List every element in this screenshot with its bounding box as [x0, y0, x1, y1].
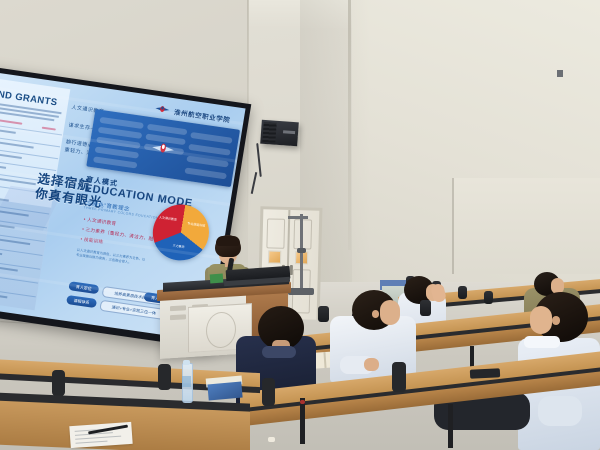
green-device-box [210, 274, 224, 284]
door-glass-pane [268, 250, 281, 263]
bottle-cap [183, 360, 190, 365]
wall-seam [348, 0, 351, 250]
student-mid-center-face [380, 300, 400, 325]
presenter-fringe [216, 236, 240, 246]
lecture-hall-photo: AND GRANTS [0, 0, 600, 450]
student-mid-center-hand [364, 358, 379, 371]
slide-pill-4: 课程体系 [66, 295, 97, 308]
smartphone[interactable] [470, 368, 500, 379]
wall-speaker [260, 120, 299, 147]
speaker-grille [262, 122, 276, 143]
wall-recess-edge [452, 178, 454, 274]
mic-stand-adjuster[interactable] [297, 248, 306, 253]
student-far-right-arm [538, 396, 582, 426]
paper-scrap [268, 437, 275, 442]
mic-stand-arm [288, 216, 308, 219]
bottle-label [182, 376, 191, 387]
door-handle[interactable] [290, 265, 293, 275]
student-far-right-ear [552, 316, 560, 325]
pie-label-red: 人文通识教育 [159, 215, 177, 222]
student-far-right-face [530, 306, 552, 334]
education-paragraph: 以人文通识教育为底色，以三力素养为主色，以专业技能训练为亮色，三色融合育人。 [76, 248, 149, 267]
blue-folder[interactable] [207, 382, 242, 401]
desk-red-mark [300, 400, 305, 404]
mic-stand-base [288, 288, 314, 295]
education-bullet-1: • 人文通识教育 [83, 217, 116, 228]
student-far-right-collar [524, 336, 560, 348]
student-front-left-collar [262, 346, 296, 358]
wall-sensor-icon [557, 70, 563, 77]
speaker-label [283, 130, 295, 134]
student-mid-center-ear [372, 310, 379, 318]
wall-recess-panel [452, 178, 600, 274]
pie-label-orange: 专业技能训练 [186, 221, 206, 228]
